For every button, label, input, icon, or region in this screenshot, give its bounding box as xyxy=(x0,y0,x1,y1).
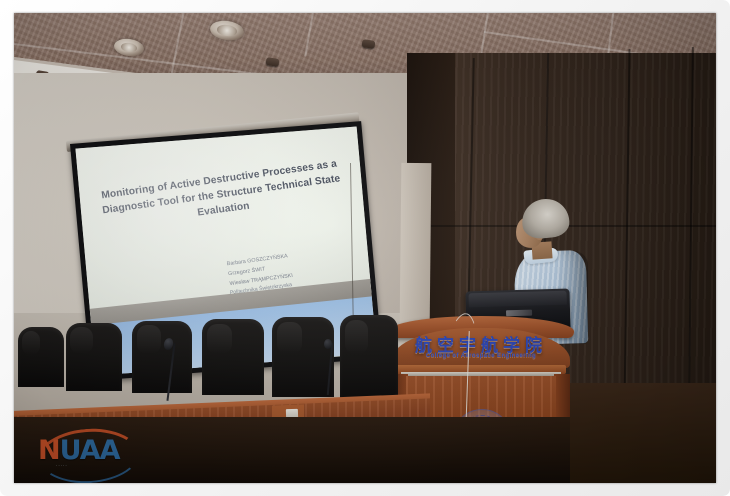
ceiling-spotlight-icon xyxy=(362,39,376,49)
podium-sign-english: College of Aerospace Engineering xyxy=(392,353,570,359)
photo-frame: Monitoring of Active Destructive Process… xyxy=(0,0,730,496)
auditorium-seat xyxy=(272,317,334,397)
speaker-hair xyxy=(520,197,570,240)
microphone-head-icon xyxy=(324,339,332,349)
auditorium-seat xyxy=(132,321,192,393)
auditorium-seat xyxy=(340,315,398,399)
laptop-logo-icon xyxy=(506,310,532,317)
laptop-lid-edge xyxy=(469,291,567,308)
auditorium-seat xyxy=(202,319,264,395)
floor-right-shadow xyxy=(570,383,716,483)
auditorium-seat xyxy=(18,327,64,387)
podium-sign-panel: 航空宇航学院 College of Aerospace Engineering xyxy=(392,328,570,368)
photograph: Monitoring of Active Destructive Process… xyxy=(14,13,716,483)
auditorium-seat xyxy=(66,323,122,391)
